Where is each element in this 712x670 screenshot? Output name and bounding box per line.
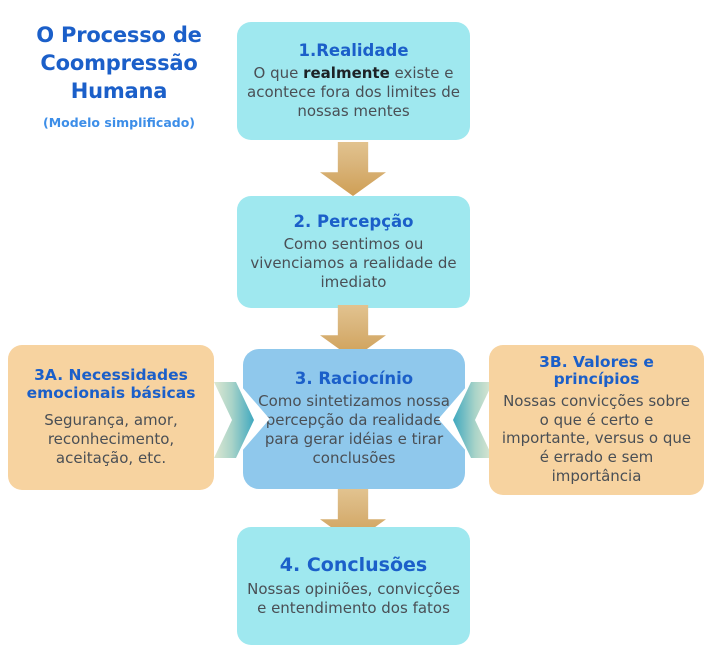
box-valores-heading: 3B. Valores e princípios	[497, 354, 696, 389]
box-percepcao-body: Como sentimos ou vivenciamos a realidade…	[245, 235, 462, 292]
title-subtitle: (Modelo simplificado)	[8, 115, 230, 130]
title-line-2: Coompressão	[8, 50, 230, 78]
box-conclusoes-heading: 4. Conclusões	[280, 554, 427, 576]
box-percepcao-heading: 2. Percepção	[294, 212, 414, 231]
title-line-3: Humana	[8, 78, 230, 106]
arrow-down-icon-1	[320, 142, 386, 196]
body-text-before: O que	[254, 64, 304, 82]
box-necessidades: 3A. Necessidades emocionais básicas Segu…	[8, 345, 214, 490]
box-necessidades-body: Segurança, amor, reconhecimento, aceitaç…	[16, 411, 206, 468]
box-raciocinio: 3. Raciocínio Como sintetizamos nossa pe…	[243, 349, 465, 489]
box-raciocinio-body: Como sintetizamos nossa percepção da rea…	[251, 392, 457, 469]
box-percepcao: 2. Percepção Como sentimos ou vivenciamo…	[237, 196, 470, 308]
box-realidade: 1.Realidade O que realmente existe e aco…	[237, 22, 470, 140]
box-conclusoes-body: Nossas opiniões, convicções e entendimen…	[245, 580, 462, 618]
box-realidade-heading: 1.Realidade	[298, 41, 408, 60]
diagram-canvas: O Processo de Coompressão Humana (Modelo…	[0, 0, 712, 670]
title-line-1: O Processo de	[8, 22, 230, 50]
box-necessidades-heading: 3A. Necessidades emocionais básicas	[16, 367, 206, 402]
box-conclusoes: 4. Conclusões Nossas opiniões, convicçõe…	[237, 527, 470, 645]
box-realidade-body: O que realmente existe e acontece fora d…	[245, 64, 462, 121]
box-raciocinio-heading: 3. Raciocínio	[295, 369, 413, 388]
body-text-bold: realmente	[303, 64, 390, 82]
box-valores-body: Nossas convicções sobre o que é certo e …	[497, 392, 696, 486]
box-valores: 3B. Valores e princípios Nossas convicçõ…	[489, 345, 704, 495]
diagram-title: O Processo de Coompressão Humana (Modelo…	[8, 22, 230, 130]
